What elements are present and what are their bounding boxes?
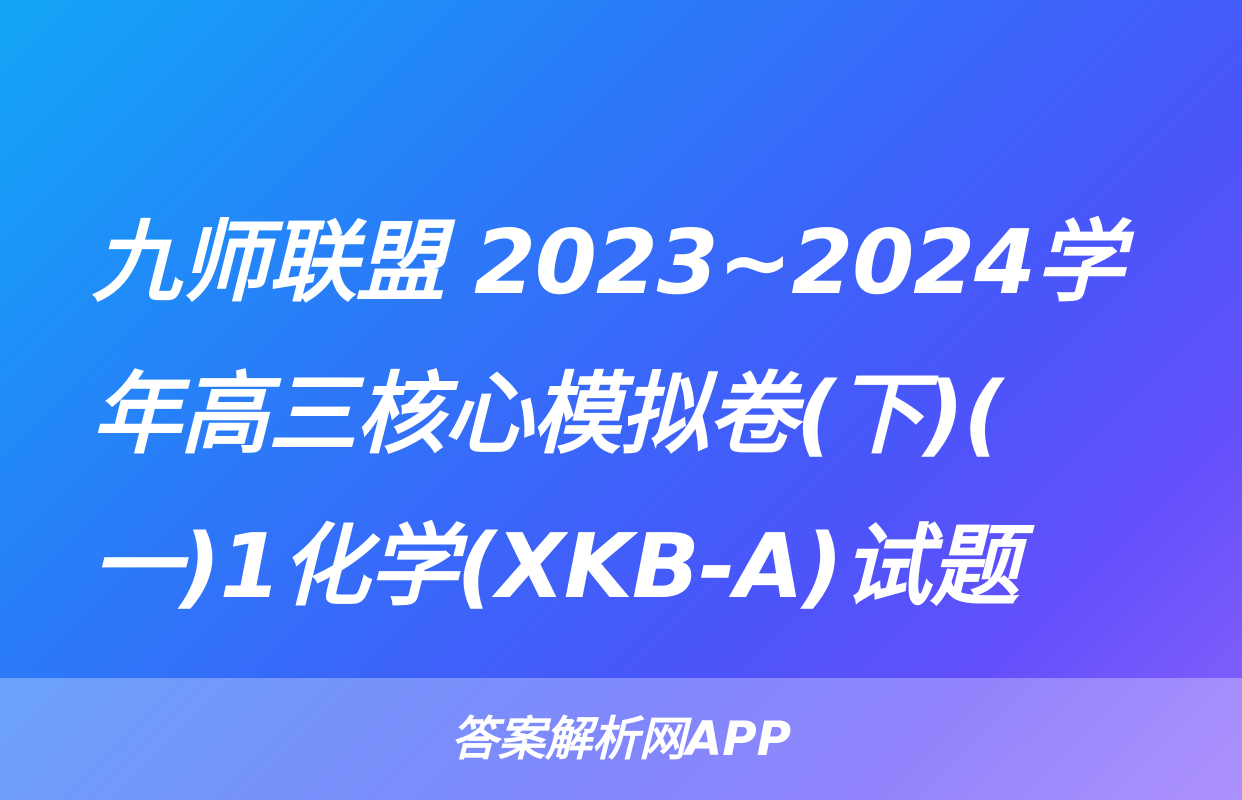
watermark-band: 答案解析网APP [0,678,1242,800]
title-line-2: 年高三核心模拟卷(下)( [92,338,1167,490]
watermark-label: 答案解析网APP [451,716,791,763]
exam-cover-card: 九师联盟 2023~2024学 年高三核心模拟卷(下)( 一)1化学(XKB-A… [0,0,1242,800]
page-title: 九师联盟 2023~2024学 年高三核心模拟卷(下)( 一)1化学(XKB-A… [92,186,1167,642]
title-line-3: 一)1化学(XKB-A)试题 [92,490,1167,642]
title-line-1: 九师联盟 2023~2024学 [92,186,1167,338]
